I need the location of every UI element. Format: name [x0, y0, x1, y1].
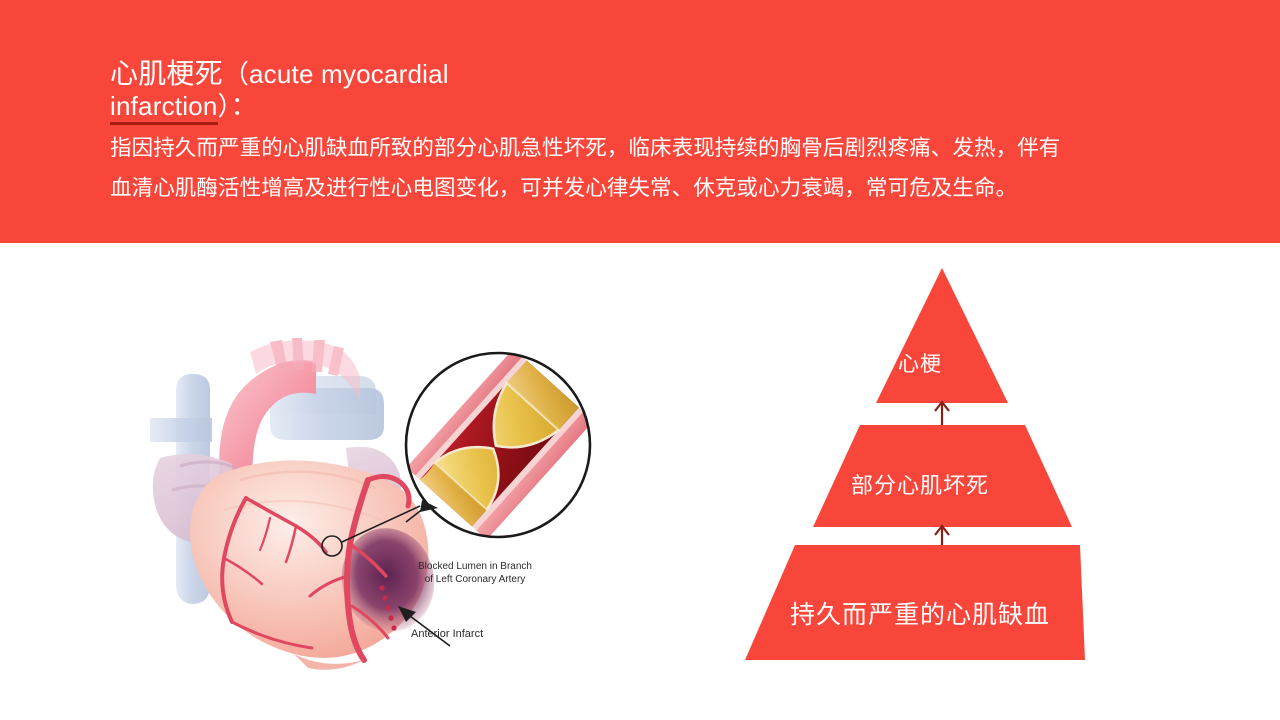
pyramid-label-top: 心梗: [730, 348, 1110, 378]
pyramid-label-base: 持久而严重的心肌缺血: [730, 595, 1110, 631]
artery-cross-section-inset: [406, 349, 594, 540]
label-blocked-lumen: Blocked Lumen in Branch of Left Coronary…: [400, 560, 550, 586]
label-blocked-lumen-line-2: of Left Coronary Artery: [400, 573, 550, 586]
definition-line-1: 指因持久而严重的心肌缺血所致的部分心肌急性坏死，临床表现持续的胸骨后剧烈疼痛、发…: [110, 128, 1220, 168]
page-title-english-close: ）：: [218, 91, 257, 121]
page-title-english-open: （acute myocardial: [223, 59, 449, 89]
arrow-middle-to-top-icon: [935, 402, 949, 427]
label-blocked-lumen-line-1: Blocked Lumen in Branch: [400, 560, 550, 573]
slide-canvas: 心肌梗死（acute myocardial infarction）： 指因持久而…: [0, 0, 1280, 720]
header-text-block: 心肌梗死（acute myocardial infarction）： 指因持久而…: [110, 58, 1220, 208]
heart-illustration: [120, 330, 620, 670]
page-title-chinese: 心肌梗死: [110, 58, 223, 89]
definition-line-2: 血清心肌酶活性增高及进行性心电图变化，可并发心律失常、休克或心力衰竭，常可危及生…: [110, 168, 1220, 208]
header-banner: 心肌梗死（acute myocardial infarction）： 指因持久而…: [0, 0, 1280, 243]
page-title-second-line: infarction）：: [110, 90, 1220, 122]
pyramid-level-top[interactable]: [876, 268, 1008, 403]
page-title: 心肌梗死（acute myocardial: [110, 58, 1220, 90]
pyramid-label-middle: 部分心肌坏死: [730, 468, 1110, 500]
label-anterior-infarct: Anterior Infarct: [411, 628, 483, 641]
page-title-misspelled-word: infarction: [110, 91, 218, 125]
definition-paragraph: 指因持久而严重的心肌缺血所致的部分心肌急性坏死，临床表现持续的胸骨后剧烈疼痛、发…: [110, 128, 1220, 208]
pyramid-diagram: 心梗 部分心肌坏死 持久而严重的心肌缺血: [730, 255, 1110, 670]
